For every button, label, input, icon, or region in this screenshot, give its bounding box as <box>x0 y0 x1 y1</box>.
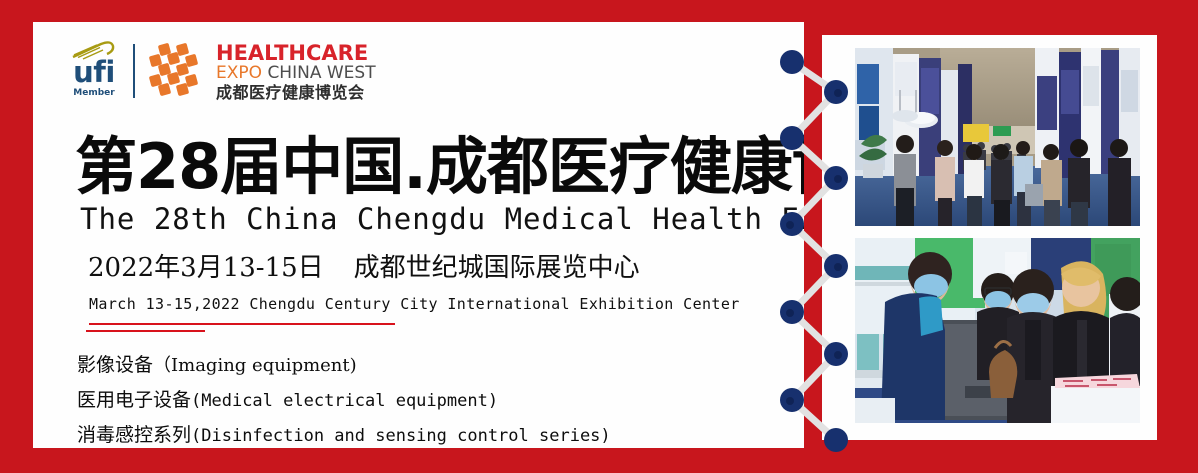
page-title-chinese: 第28届中国.成都医疗健康博览会 <box>75 134 804 200</box>
expo-wordmark: HEALTHCARE EXPO CHINA WEST 成都医疗健康博览会 <box>216 42 376 102</box>
event-venue-chinese: 成都世纪城国际展览中心 <box>354 253 640 283</box>
list-item: 影像设备（Imaging equipment) <box>77 348 611 383</box>
event-date-venue-chinese: 2022年3月13-15日成都世纪城国际展览中心 <box>88 252 640 284</box>
left-content-panel: ufi Member <box>33 22 804 448</box>
category-label-en: （Imaging equipment) <box>153 355 357 376</box>
booth-visitors-photo <box>855 238 1140 423</box>
event-date-venue-english: March 13-15,2022 Chengdu Century City In… <box>89 294 740 314</box>
category-label-cn: 消毒感控系列 <box>77 424 191 446</box>
healthcare-expo-cross-mark-icon <box>147 42 209 100</box>
category-label-en: (Disinfection and sensing control series… <box>191 426 611 446</box>
ufi-member-logo: ufi Member <box>65 38 123 104</box>
logo-bar: ufi Member <box>65 36 376 106</box>
expo-title-region: EXPO CHINA WEST <box>216 64 376 83</box>
list-item: 医用电子设备(Medical electrical equipment) <box>77 383 611 418</box>
category-label-cn: 影像设备 <box>77 354 153 376</box>
expo-title-healthcare: HEALTHCARE <box>216 42 376 64</box>
exhibition-hall-aisle-photo <box>855 48 1140 226</box>
ufi-wordmark: ufi <box>65 57 123 87</box>
expo-title-chinese: 成都医疗健康博览会 <box>216 83 376 102</box>
accent-rule-long <box>89 323 395 325</box>
expo-poster: ufi Member <box>0 0 1198 473</box>
ufi-member-label: Member <box>65 88 123 98</box>
accent-rule-short <box>86 330 205 332</box>
category-label-en: (Medical electrical equipment) <box>191 391 498 411</box>
expo-title-expo-word: EXPO <box>216 63 262 83</box>
list-item: 消毒感控系列(Disinfection and sensing control … <box>77 418 611 448</box>
event-date-chinese: 2022年3月13-15日 <box>88 253 324 283</box>
right-photo-panel <box>822 35 1157 440</box>
expo-title-china-west: CHINA WEST <box>267 63 375 83</box>
page-title-english: The 28th China Chengdu Medical Health Ex… <box>80 202 804 236</box>
logo-divider <box>133 44 135 98</box>
category-label-cn: 医用电子设备 <box>77 389 191 411</box>
category-list: 影像设备（Imaging equipment) 医用电子设备(Medical e… <box>77 348 611 448</box>
